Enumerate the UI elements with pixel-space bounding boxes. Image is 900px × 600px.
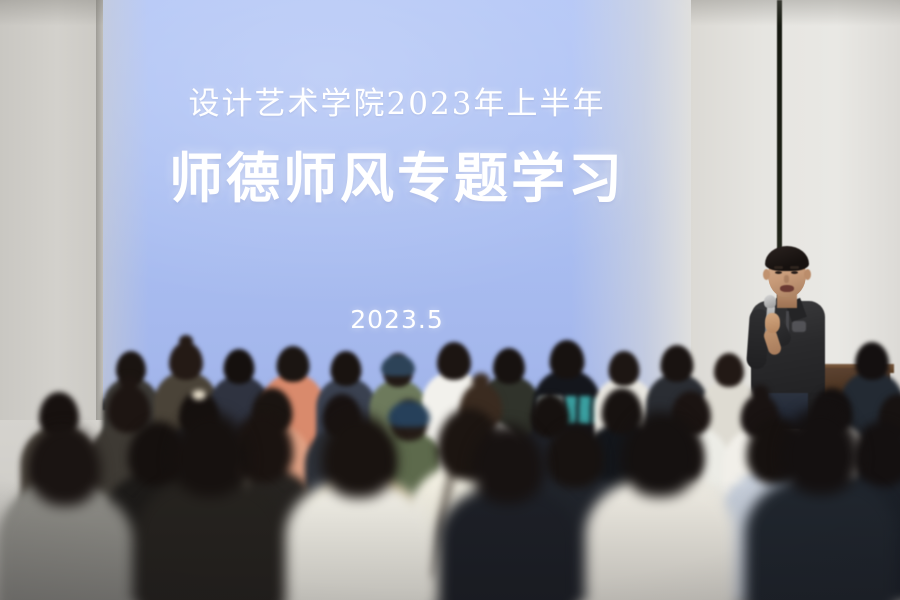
speaker-mouth [780, 285, 794, 292]
speaker-eyebrow-left [774, 266, 783, 269]
audience-row-front [0, 468, 900, 600]
audience-member-head [171, 411, 249, 497]
photograph-lecture-hall: 设计艺术学院2023年上半年 师德师风专题学习 2023.5 [0, 0, 900, 600]
audience-member-head [472, 424, 545, 504]
audience-member [150, 392, 270, 600]
speaker-eyebrow-right [790, 266, 799, 269]
audience-member [300, 396, 418, 600]
audience-member-head [29, 426, 101, 506]
speaker-eye-left [775, 271, 782, 274]
slide-subtitle: 设计艺术学院2023年上半年 [103, 78, 691, 123]
speaker-ear-right [804, 269, 811, 280]
audience-member-head [321, 414, 397, 498]
microphone-head-icon [764, 295, 776, 308]
slide-title: 师德师风专题学习 [103, 134, 691, 213]
audience-member [452, 406, 564, 600]
speaker-eye-right [791, 271, 798, 274]
audience-member [10, 408, 120, 600]
audience-member [760, 388, 882, 600]
speaker-hair [765, 246, 809, 271]
audience-member [600, 392, 720, 600]
audience [0, 310, 900, 600]
speaker-nose [784, 275, 789, 283]
audience-member-head [782, 407, 861, 495]
speaker-ear-left [763, 269, 770, 280]
audience-member-head [621, 411, 699, 497]
